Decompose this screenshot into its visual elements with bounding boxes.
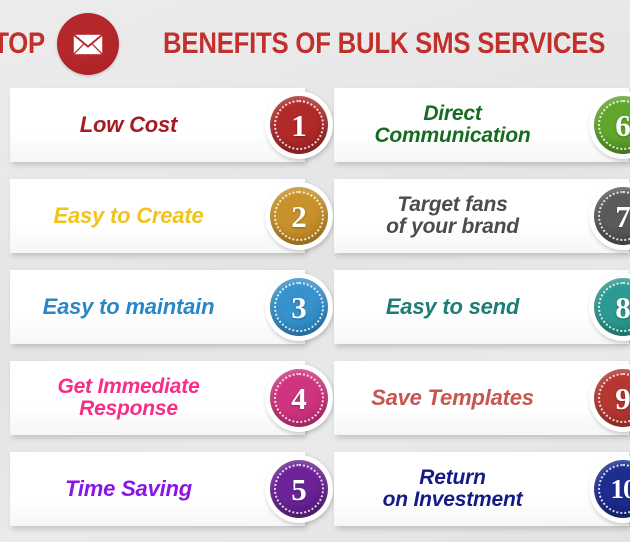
benefit-card-10[interactable]: Return on Investment 10 — [334, 452, 629, 526]
benefit-label-2: Easy to Create — [10, 205, 305, 228]
benefit-number-badge-2: 2 — [265, 182, 333, 250]
benefit-number-badge-8: 8 — [589, 273, 630, 341]
infographic-root: TOP BENEFITS OF BULK SMS SERVICES Low Co… — [0, 0, 630, 542]
benefit-number-badge-3: 3 — [265, 273, 333, 341]
benefit-number-badge-1: 1 — [265, 91, 333, 159]
benefit-number-disc-9: 9 — [594, 369, 630, 427]
benefit-label-3: Easy to maintain — [10, 296, 305, 319]
benefit-number-disc-8: 8 — [594, 278, 630, 336]
benefit-card-9[interactable]: Save Templates 9 — [334, 361, 629, 435]
benefits-column-left: Low Cost 1 Easy to Create 2 Easy to main… — [10, 88, 305, 542]
benefit-number-8: 8 — [615, 292, 630, 323]
header: TOP BENEFITS OF BULK SMS SERVICES — [0, 0, 630, 88]
benefit-label-6: Direct Communication — [334, 103, 629, 147]
benefit-card-8[interactable]: Easy to send 8 — [334, 270, 629, 344]
benefit-label-5: Time Saving — [10, 478, 305, 501]
benefit-number-3: 3 — [291, 292, 307, 323]
benefit-number-badge-5: 5 — [265, 455, 333, 523]
benefit-number-2: 2 — [291, 201, 307, 232]
benefit-label-8: Easy to send — [334, 296, 629, 319]
benefit-number-disc-10: 10 — [594, 460, 630, 518]
benefit-number-badge-10: 10 — [589, 455, 630, 523]
benefit-number-disc-2: 2 — [270, 187, 328, 245]
benefit-number-badge-9: 9 — [589, 364, 630, 432]
header-title-left: TOP — [0, 27, 45, 61]
benefit-number-10: 10 — [611, 476, 630, 503]
benefit-card-3[interactable]: Easy to maintain 3 — [10, 270, 305, 344]
benefit-number-badge-6: 6 — [589, 91, 630, 159]
benefit-number-disc-1: 1 — [270, 96, 328, 154]
benefit-number-5: 5 — [291, 474, 307, 505]
benefit-label-7: Target fans of your brand — [334, 194, 629, 238]
benefit-label-10: Return on Investment — [334, 467, 629, 511]
benefit-number-badge-4: 4 — [265, 364, 333, 432]
benefit-number-disc-7: 7 — [594, 187, 630, 245]
benefit-card-1[interactable]: Low Cost 1 — [10, 88, 305, 162]
benefit-label-4: Get Immediate Response — [10, 376, 305, 420]
benefit-number-7: 7 — [615, 201, 630, 232]
benefit-card-7[interactable]: Target fans of your brand 7 — [334, 179, 629, 253]
benefit-number-disc-3: 3 — [270, 278, 328, 336]
benefit-label-1: Low Cost — [10, 114, 305, 137]
benefit-number-9: 9 — [615, 383, 630, 414]
benefit-number-disc-5: 5 — [270, 460, 328, 518]
benefit-number-1: 1 — [291, 110, 307, 141]
benefit-number-badge-7: 7 — [589, 182, 630, 250]
benefit-card-2[interactable]: Easy to Create 2 — [10, 179, 305, 253]
benefit-card-6[interactable]: Direct Communication 6 — [334, 88, 629, 162]
benefit-number-disc-6: 6 — [594, 96, 630, 154]
benefit-label-9: Save Templates — [334, 387, 629, 410]
envelope-icon — [57, 13, 119, 75]
benefit-card-4[interactable]: Get Immediate Response 4 — [10, 361, 305, 435]
benefits-column-right: Direct Communication 6 Target fans of yo… — [334, 88, 629, 542]
benefits-grid: Low Cost 1 Easy to Create 2 Easy to main… — [0, 88, 630, 542]
benefit-number-6: 6 — [615, 110, 630, 141]
benefit-card-5[interactable]: Time Saving 5 — [10, 452, 305, 526]
header-title-right: BENEFITS OF BULK SMS SERVICES — [163, 27, 605, 61]
benefit-number-4: 4 — [291, 383, 307, 414]
benefit-number-disc-4: 4 — [270, 369, 328, 427]
